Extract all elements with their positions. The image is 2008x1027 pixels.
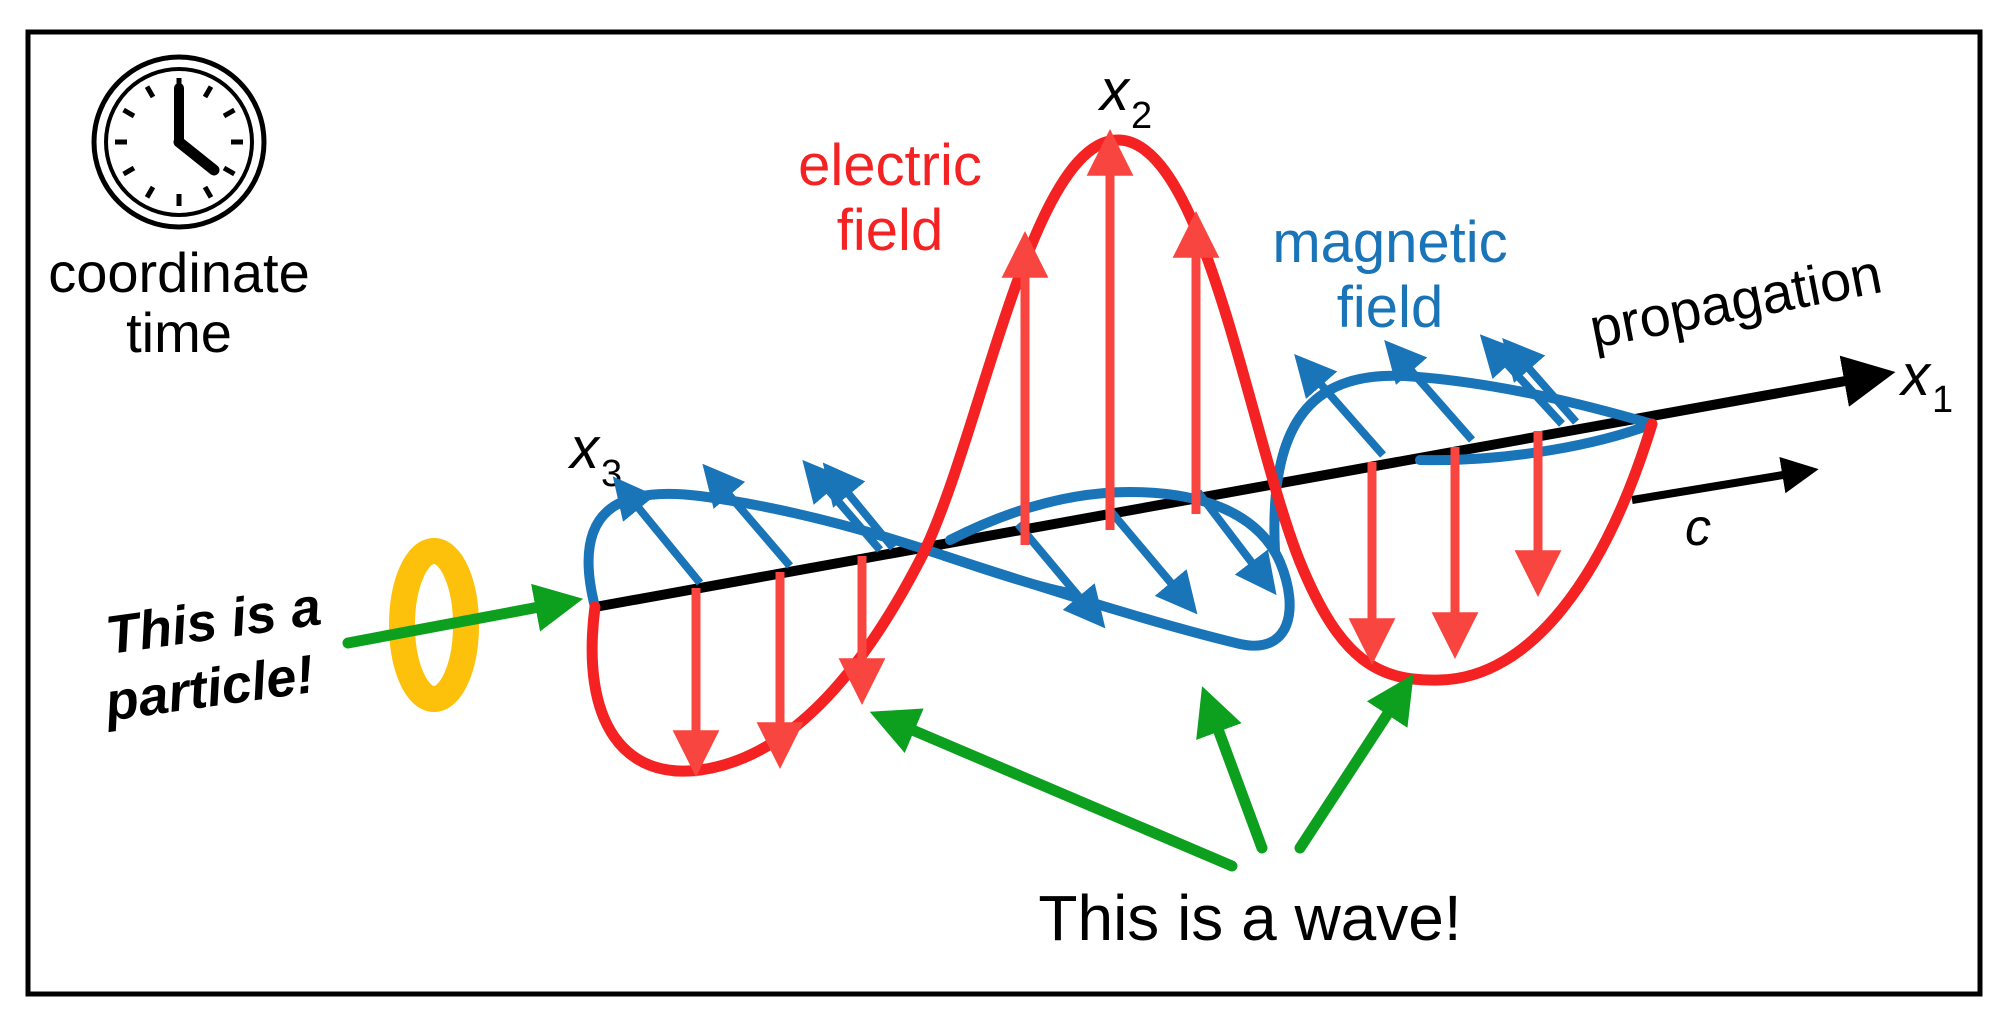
figure-root: coordinate time This is a particle! prop… (0, 0, 2008, 1027)
clock-icon (94, 57, 264, 227)
em-wave-diagram: coordinate time This is a particle! prop… (0, 0, 2008, 1027)
magnetic-field-label-line2: field (1337, 275, 1443, 340)
magnetic-field-label-line1: magnetic (1272, 210, 1507, 275)
electric-field-label-line1: electric (798, 133, 982, 198)
coordinate-time-label-line2: time (126, 301, 232, 364)
electric-field-label-line2: field (837, 198, 943, 263)
svg-text:2: 2 (1131, 95, 1152, 137)
svg-text:x: x (1097, 58, 1131, 123)
coordinate-time-label-line1: coordinate (48, 241, 310, 304)
svg-text:x: x (1898, 343, 1932, 408)
svg-text:1: 1 (1932, 379, 1953, 421)
speed-of-light-label: c (1685, 499, 1711, 557)
svg-text:3: 3 (601, 453, 622, 495)
wave-note-label: This is a wave! (1038, 882, 1461, 954)
svg-text:x: x (567, 416, 601, 481)
